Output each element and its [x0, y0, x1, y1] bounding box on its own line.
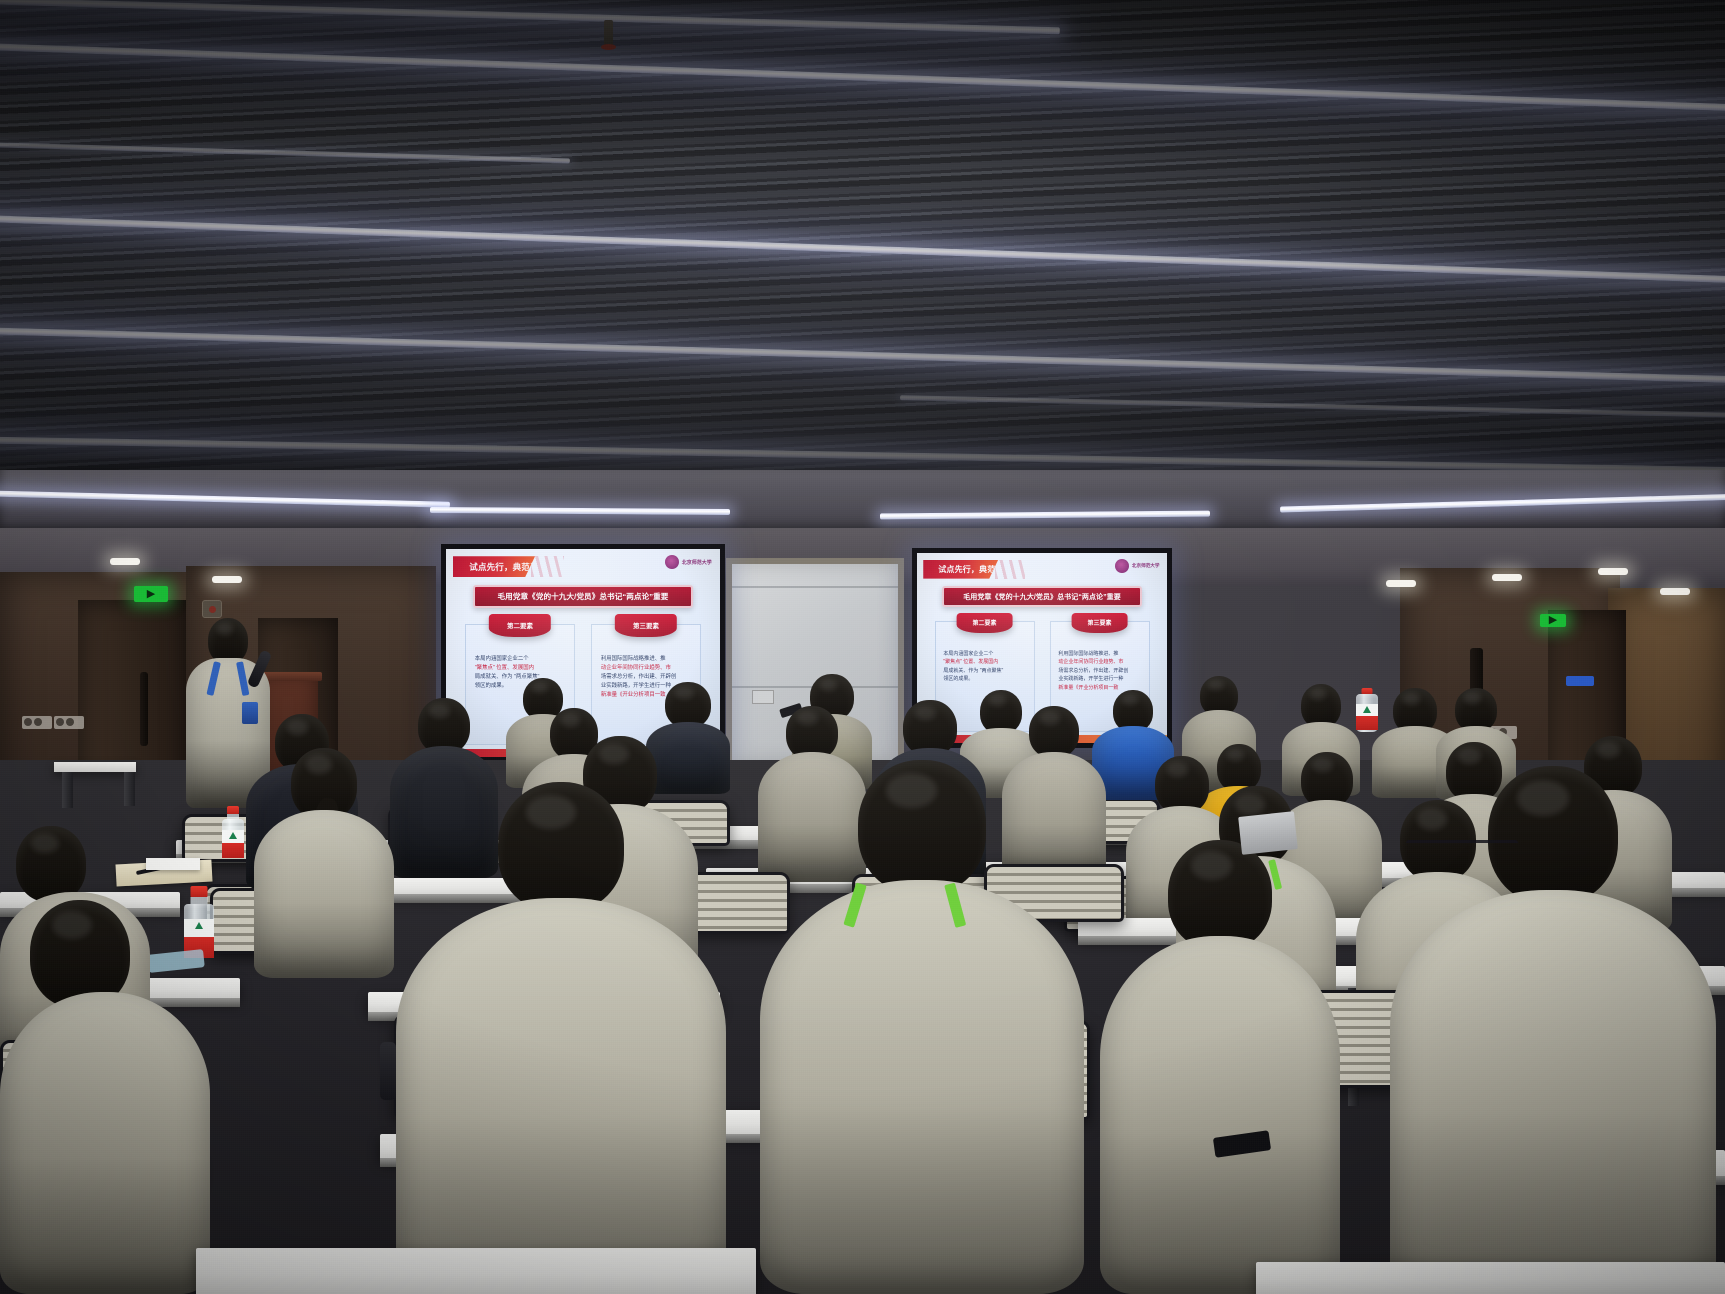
hair-highlight [915, 706, 937, 721]
slide-title-bar: 毛用党章《党的十九大/党员》总书记“两点论”重要 [473, 585, 692, 608]
conference-room-photo: ▶ ▶ 试点先行，典范引领 北京师范大学 毛用党章《党的十九大/党员》总书记“两… [0, 0, 1725, 1294]
slide-line: 领区的成果。 [943, 676, 1025, 683]
slide-line: 本局内涵国家企业二个 [475, 656, 565, 663]
bottle-label-top [222, 830, 244, 843]
slide-card-1-ribbon-text: 第二要素 [972, 618, 996, 627]
audience-member-foreground [1100, 840, 1340, 1294]
hair-highlight [287, 720, 309, 735]
ceiling-downlight [1660, 588, 1690, 595]
slide-line: 局成就关、作为 "两点聚焦" [943, 668, 1025, 675]
slide-card-1-ribbon: 第二要素 [956, 613, 1013, 634]
slide-banner-stripes [995, 560, 1025, 579]
exit-sign-glyph: ▶ [147, 589, 155, 600]
hair-highlight [675, 687, 693, 699]
ceiling-downlight [1492, 574, 1522, 581]
door-handle-left [140, 672, 148, 746]
hair-highlight [561, 713, 580, 727]
hair-highlight [797, 711, 818, 725]
slide-card-2-ribbon: 第三要素 [1071, 613, 1128, 634]
exit-sign-left: ▶ [134, 586, 168, 602]
slide-line: "聚焦点" 位置、发展国内 [943, 659, 1025, 666]
hair-highlight [1122, 694, 1138, 705]
hair-highlight [217, 623, 233, 635]
hair-highlight [989, 694, 1006, 705]
slide-card-2-ribbon-text: 第三要素 [633, 620, 659, 630]
lanyard-strap [843, 882, 866, 927]
university-emblem-icon [665, 555, 679, 569]
slide-card-2-ribbon: 第三要素 [615, 614, 677, 637]
hair-highlight [429, 704, 450, 719]
slide-card-2-body: 利用国际国际战略推进、推 动企业年间协同行业趋势、市 场需求总分析，作出建、开辟… [1058, 651, 1140, 692]
slide-logo: 北京师范大学 [1115, 559, 1160, 573]
slide-line: "聚焦点" 位置、发展国内 [475, 665, 565, 672]
audience-member-foreground [396, 782, 726, 1294]
torso [396, 898, 726, 1294]
torso [1100, 936, 1340, 1294]
ceiling-downlight [212, 576, 242, 583]
university-emblem-icon [1115, 559, 1129, 573]
hair-highlight [306, 755, 332, 774]
whiteboard-seam [732, 586, 898, 588]
slide-title-bar: 毛用党章《党的十九大/党员》总书记“两点论”重要 [942, 586, 1142, 607]
slide-card-1-body: 本局内涵国家企业二个 "聚焦点" 位置、发展国内 局成就关、作为 "两点聚焦" … [943, 651, 1025, 683]
slide-card-1-ribbon: 第二要素 [489, 614, 551, 637]
hair-highlight [1312, 758, 1333, 773]
hair-highlight [31, 834, 59, 854]
wall-outlet-left [22, 716, 52, 729]
head [1168, 840, 1272, 950]
hair-highlight [1458, 748, 1480, 764]
slide-logo: 北京师范大学 [665, 555, 712, 569]
bottle-cap [191, 886, 208, 897]
hair-highlight [820, 679, 838, 691]
tablet-device[interactable] [1238, 811, 1298, 855]
ceiling-downlight [1386, 580, 1416, 587]
chair-armrest [380, 1042, 396, 1100]
ceiling-vignette [0, 0, 1725, 520]
paper-sheet[interactable] [146, 858, 200, 870]
hair-highlight [532, 682, 548, 693]
slide-line: 动企业年间协同行业趋势、市 [601, 665, 691, 672]
audience-member-foreground [760, 760, 1084, 1294]
slide-card-1-ribbon-text: 第二要素 [507, 620, 533, 630]
hair-highlight [52, 911, 92, 939]
slide-line: 业实践新路，开学生进行一种 [1058, 676, 1140, 683]
slide-line: 利用国际国际战略推进、推 [601, 656, 691, 663]
hair-highlight [1235, 794, 1265, 815]
head [1488, 766, 1618, 904]
hair-highlight [1167, 762, 1189, 777]
hair-highlight [1208, 680, 1223, 690]
torso [1390, 890, 1716, 1294]
eyeglasses-icon [1406, 840, 1518, 862]
room-sign [1566, 676, 1594, 686]
ceiling [0, 0, 1725, 520]
side-table-leg [62, 772, 73, 808]
hair-highlight [1403, 693, 1421, 705]
slide-line: 动企业年间协同行业趋势、市 [1058, 659, 1140, 666]
slide-logo-text: 北京师范大学 [682, 559, 712, 566]
side-table-leg [124, 772, 135, 806]
slide-banner-stripes [531, 556, 564, 577]
slide-line: 场需求总分析，作出建、开辟创 [601, 674, 691, 681]
whiteboard-tray [752, 690, 774, 704]
lanyard-strap [944, 883, 966, 928]
lanyard [760, 884, 1084, 930]
hair-highlight [1310, 688, 1326, 699]
wall-outlet-left-2 [54, 716, 84, 729]
exit-sign-right: ▶ [1540, 614, 1566, 627]
slide-corner-banner: 试点先行，典范引领 [453, 556, 535, 577]
slide-corner-banner: 试点先行，典范引领 [923, 560, 998, 579]
hair-highlight [1040, 711, 1060, 725]
head [498, 782, 624, 912]
head [1029, 706, 1079, 758]
side-table [54, 762, 136, 772]
hair-highlight [1597, 742, 1620, 758]
slide-line: 利用国际国际战略推进、推 [1058, 651, 1140, 658]
slide-title-text: 毛用党章《党的十九大/党员》总书记“两点论”重要 [497, 591, 668, 602]
bottle-label-top [1356, 704, 1378, 716]
torso [0, 992, 210, 1294]
torso [760, 880, 1084, 1294]
slide-title-text: 毛用党章《党的十九大/党员》总书记“两点论”重要 [963, 592, 1121, 602]
training-table-front [196, 1248, 756, 1294]
head [16, 826, 86, 902]
slide-line: 本局内涵国家企业二个 [943, 651, 1025, 658]
torso [254, 810, 394, 978]
water-bottle-raised[interactable] [1356, 688, 1378, 732]
slide-line: 场需求总分析，作出建、开辟创 [1058, 668, 1140, 675]
audience-member-foreground-glasses [1390, 766, 1716, 1294]
hair-highlight [1517, 780, 1569, 816]
bottle-cap [227, 806, 239, 814]
head [858, 760, 986, 894]
ceiling-downlight [1598, 568, 1628, 575]
hair-highlight [599, 744, 629, 764]
slide-logo-text: 北京师范大学 [1132, 563, 1160, 569]
hair-highlight [1191, 851, 1233, 880]
bottle-label-bottom [1356, 716, 1378, 730]
smoke-detector [202, 600, 222, 618]
audience-member-foreground [0, 900, 210, 1294]
bottle-label-bottom [222, 843, 244, 858]
hair-highlight [526, 795, 576, 829]
hair-highlight [1464, 692, 1481, 703]
ceiling-downlight [110, 558, 140, 565]
water-bottle[interactable] [222, 806, 244, 858]
slide-card-2-ribbon-text: 第三要素 [1087, 618, 1111, 627]
audience-member-ponytail [254, 748, 394, 978]
exit-sign-glyph: ▶ [1549, 615, 1557, 626]
lanyard-strap [236, 661, 249, 696]
lanyard-strap [206, 661, 220, 696]
training-table-front [1256, 1262, 1725, 1294]
hair-highlight [886, 773, 937, 808]
